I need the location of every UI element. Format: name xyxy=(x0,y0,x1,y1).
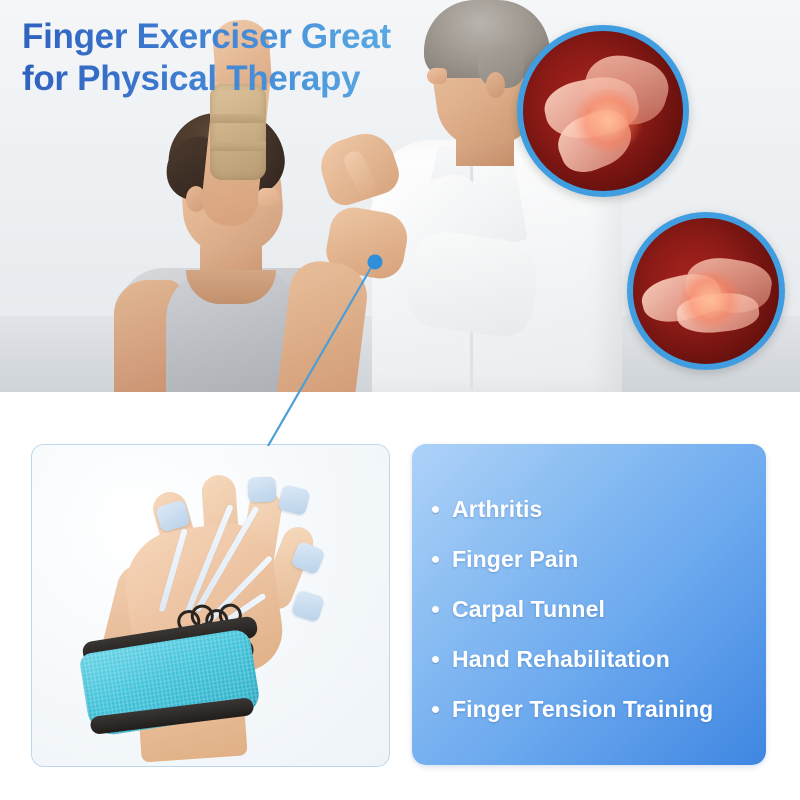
benefit-label: Finger Pain xyxy=(452,546,578,573)
benefits-panel: Arthritis Finger Pain Carpal Tunnel Hand… xyxy=(412,444,766,765)
benefit-item: Carpal Tunnel xyxy=(428,584,758,634)
product-infographic: Arthritis Finger Pain Carpal Tunnel Hand… xyxy=(0,0,800,800)
benefit-label: Arthritis xyxy=(452,496,542,523)
product-photo-panel xyxy=(31,444,390,767)
callout-circle-hand-pain xyxy=(627,212,785,370)
doctor-ear xyxy=(486,72,505,98)
callout-circle-wrist-pain xyxy=(517,25,689,197)
pain-glow-icon xyxy=(571,89,645,153)
headline-line-2: for Physical Therapy xyxy=(22,58,442,100)
benefits-list: Arthritis Finger Pain Carpal Tunnel Hand… xyxy=(428,484,758,734)
bullet-dot-icon xyxy=(432,556,439,563)
benefit-item: Finger Pain xyxy=(428,534,758,584)
bullet-dot-icon xyxy=(432,506,439,513)
bullet-dot-icon xyxy=(432,606,439,613)
bullet-dot-icon xyxy=(432,656,439,663)
patient-nose xyxy=(258,188,280,206)
benefit-item: Arthritis xyxy=(428,484,758,534)
headline-line-1: Finger Exerciser Great xyxy=(22,16,442,58)
benefit-label: Hand Rehabilitation xyxy=(452,646,670,673)
page-title: Finger Exerciser Great for Physical Ther… xyxy=(22,16,442,100)
benefit-item: Hand Rehabilitation xyxy=(428,634,758,684)
bullet-dot-icon xyxy=(432,706,439,713)
pain-glow-icon xyxy=(677,271,744,329)
benefit-label: Finger Tension Training xyxy=(452,696,713,723)
benefit-item: Finger Tension Training xyxy=(428,684,758,734)
benefit-label: Carpal Tunnel xyxy=(452,596,605,623)
finger-loop xyxy=(248,477,277,503)
